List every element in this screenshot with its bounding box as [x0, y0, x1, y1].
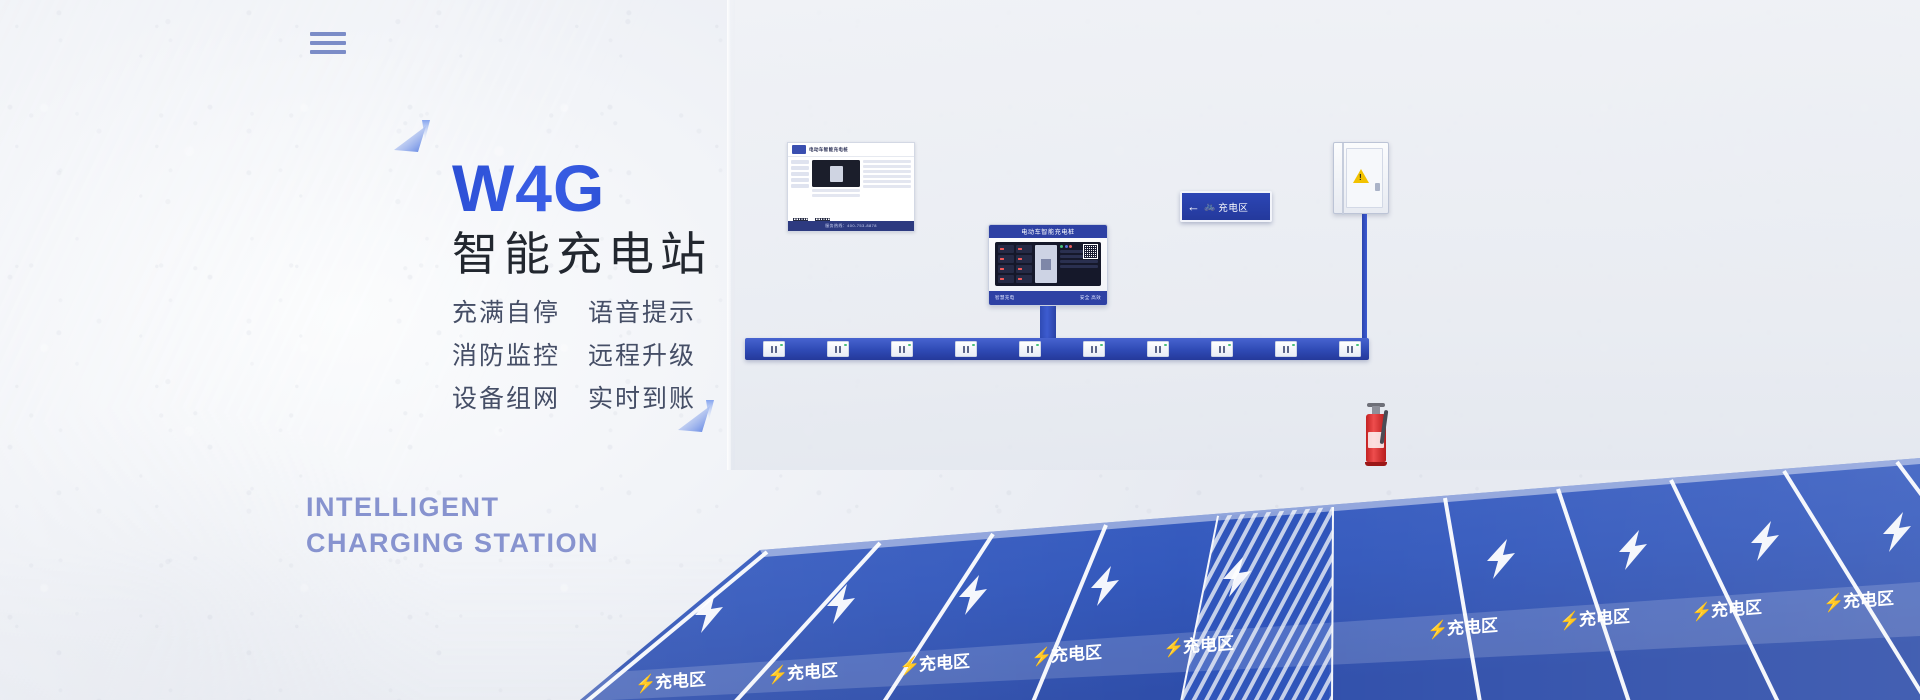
charging-pile-screen	[1035, 245, 1057, 283]
feature-item: 消防监控	[452, 336, 560, 372]
e-bike-icon: 🚲	[1204, 202, 1214, 211]
high-voltage-warning-icon	[1353, 169, 1369, 183]
direction-sign-label: 充电区	[1218, 200, 1248, 214]
cabinet-lock-icon	[1375, 183, 1380, 191]
poster-text-line	[863, 175, 911, 178]
poster-device-image	[812, 160, 860, 187]
bay-bolt-mark: ⚡	[1163, 636, 1184, 659]
indicator-bar	[1060, 260, 1098, 263]
poster-text-chip	[791, 184, 809, 188]
poster-logo-icon	[792, 145, 806, 154]
hamburger-menu-icon[interactable]	[310, 32, 346, 54]
charging-pile-support-pole	[1040, 306, 1056, 341]
hero-subheadline: 智能充电站	[452, 218, 712, 284]
power-socket-icon	[763, 341, 785, 357]
poster-text-line	[863, 165, 911, 168]
power-socket-icon	[1339, 341, 1361, 357]
bay-label: 充电区	[1711, 597, 1762, 621]
hero-english-tagline: INTELLIGENT CHARGING STATION	[306, 490, 599, 562]
bay-label: 充电区	[919, 651, 970, 675]
power-socket-icon	[827, 341, 849, 357]
power-socket-icon	[1019, 341, 1041, 357]
power-socket-icon	[1147, 341, 1169, 357]
power-socket-icon	[891, 341, 913, 357]
english-tagline-line2: CHARGING STATION	[306, 526, 599, 562]
feature-item: 语音提示	[588, 293, 696, 329]
poster-footer: 服务热线：400-753-8878	[788, 221, 914, 231]
hero-feature-list: 充满自停 语音提示 消防监控 远程升级 设备组网 实时到账	[452, 293, 696, 415]
hamburger-line	[310, 50, 346, 54]
feature-item: 远程升级	[588, 336, 696, 372]
charging-pile-qr-icon	[1083, 244, 1098, 259]
electrical-cabinet	[1333, 142, 1389, 214]
status-led-red-icon	[1069, 245, 1072, 248]
poster-device-screen	[830, 166, 843, 182]
power-socket-icon	[1211, 341, 1233, 357]
bay-bolt-mark: ⚡	[1427, 618, 1448, 641]
poster-text-line	[863, 185, 911, 188]
poster-header: 电动车智能充电桩	[788, 143, 914, 157]
bay-label: 充电区	[1579, 606, 1630, 630]
charging-station-illustration: 电动车智能充电桩	[0, 0, 1920, 700]
hero-headline: W4G	[452, 155, 605, 221]
charging-pile-brand: 智慧充电	[995, 295, 1015, 301]
poster-text-chip	[791, 160, 809, 164]
poster-device-column	[812, 160, 860, 214]
charging-port	[998, 255, 1014, 263]
poster-right-column	[863, 160, 911, 214]
feature-item: 实时到账	[588, 379, 696, 415]
status-led-blue-icon	[1065, 245, 1068, 248]
hero-banner: 电动车智能充电桩	[0, 0, 1920, 700]
arrow-left-icon: ←	[1187, 200, 1200, 213]
poster-text-line	[863, 170, 911, 173]
cabinet-hinge	[1342, 143, 1344, 215]
poster-text-chip	[791, 178, 809, 182]
status-led-green-icon	[1060, 245, 1063, 248]
english-tagline-line1: INTELLIGENT	[306, 490, 599, 526]
power-socket-icon	[1275, 341, 1297, 357]
charging-rail	[745, 338, 1369, 360]
power-conduit-vertical	[1362, 214, 1367, 340]
charging-port	[1016, 275, 1032, 283]
indicator-bar	[1060, 265, 1098, 268]
poster-text-chip	[791, 172, 809, 176]
poster-body	[788, 157, 914, 217]
charging-port	[1016, 245, 1032, 253]
bay-label: 充电区	[1051, 642, 1102, 666]
bay-label: 充电区	[1843, 588, 1894, 612]
poster-text-line	[863, 160, 911, 163]
back-wall	[731, 0, 1920, 470]
poster-caption-line	[812, 189, 860, 192]
charging-pile-title: 电动车智能充电桩	[989, 225, 1107, 238]
parking-floor: ⚡ 充电区 ⚡ 充电区 ⚡ 充电区 ⚡ 充电区	[520, 440, 1920, 700]
bay-bolt-mark: ⚡	[1559, 609, 1580, 632]
charging-port	[1016, 265, 1032, 273]
feature-item: 设备组网	[452, 379, 560, 415]
charging-port	[998, 265, 1014, 273]
bay-bolt-mark: ⚡	[1031, 645, 1052, 668]
bay-bolt-mark: ⚡	[899, 654, 920, 677]
bay-bolt-mark: ⚡	[1823, 591, 1844, 614]
charging-pile-footer: 智慧充电 安全 高效	[989, 291, 1107, 305]
decorative-arrow-shard	[392, 118, 438, 164]
bay-label: 充电区	[1183, 633, 1234, 657]
charging-pile-port-grid	[998, 245, 1032, 283]
power-socket-icon	[955, 341, 977, 357]
poster-text-chip	[791, 166, 809, 170]
hamburger-line	[310, 32, 346, 36]
charging-port	[998, 275, 1014, 283]
charging-port	[998, 245, 1014, 253]
wall-poster: 电动车智能充电桩	[787, 142, 915, 232]
feature-item: 充满自停	[452, 293, 560, 329]
bay-bolt-mark: ⚡	[1691, 600, 1712, 623]
bay-label: 充电区	[655, 669, 706, 693]
poster-left-column	[791, 160, 809, 214]
hamburger-line	[310, 41, 346, 45]
power-socket-icon	[1083, 341, 1105, 357]
poster-text-line	[863, 180, 911, 183]
direction-sign: ← 🚲 充电区	[1180, 191, 1272, 222]
bay-bolt-mark: ⚡	[635, 672, 656, 695]
bay-label: 充电区	[1447, 615, 1498, 639]
charging-pile-device: 电动车智能充电桩	[988, 224, 1108, 306]
charging-pile-subbrand: 安全 高效	[1080, 295, 1101, 301]
charging-port	[1016, 255, 1032, 263]
bay-bolt-mark: ⚡	[767, 663, 788, 686]
bay-label: 充电区	[787, 660, 838, 684]
poster-title: 电动车智能充电桩	[809, 147, 848, 153]
poster-caption-line	[812, 194, 860, 197]
